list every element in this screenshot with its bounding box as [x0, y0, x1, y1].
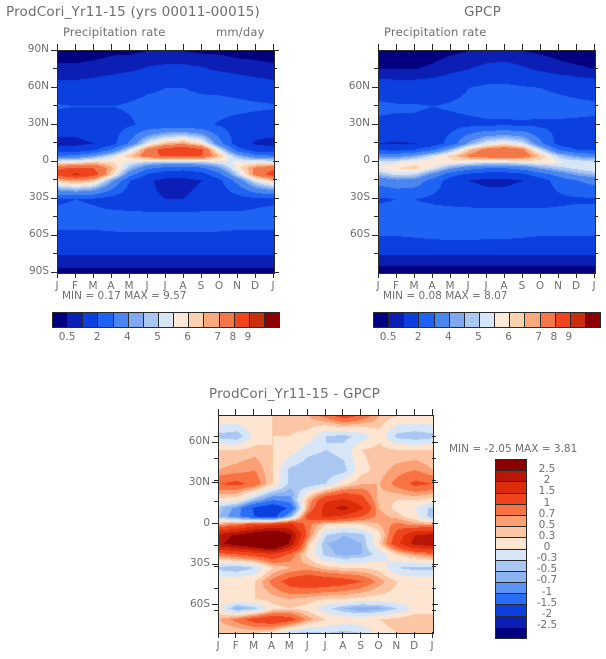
y-minor-tick [53, 68, 57, 69]
x-tick [576, 44, 577, 50]
obs-subtitle: Precipitation rate [384, 25, 487, 39]
x-tick [325, 409, 326, 415]
x-tick [183, 44, 184, 50]
x-tick [432, 272, 433, 278]
colorbar-cell [496, 550, 526, 561]
y-minor-tick [374, 235, 378, 236]
colorbar-cell [374, 313, 389, 327]
colorbar-cell [220, 313, 235, 327]
colorbar-cell [496, 561, 526, 572]
diff-colorbar[interactable] [495, 459, 527, 639]
y-minor-tick [432, 523, 436, 524]
y-minor-tick [594, 161, 598, 162]
precip-colorbar-obs[interactable] [373, 312, 601, 328]
x-tick [414, 44, 415, 50]
x-tick [414, 632, 415, 638]
colorbar-cell [496, 594, 526, 605]
colorbar-tick-label: 4 [434, 331, 462, 343]
y-axis-label: 30N [5, 117, 49, 129]
colorbar-cell [496, 471, 526, 482]
y-minor-tick [594, 216, 598, 217]
y-axis-label: 30S [5, 191, 49, 203]
x-tick [271, 632, 272, 638]
colorbar-tick-label: -2.5 [529, 619, 565, 631]
y-minor-tick [432, 545, 436, 546]
x-tick [414, 409, 415, 415]
colorbar-tick-label: 6 [495, 331, 523, 343]
model-units: mm/day [216, 25, 265, 39]
y-minor-tick [273, 105, 277, 106]
y-minor-tick [594, 198, 598, 199]
x-axis-label: M [280, 640, 298, 652]
y-minor-tick [432, 610, 436, 611]
y-axis-label: 60N [5, 80, 49, 92]
colorbar-cell [159, 313, 174, 327]
x-axis-label: D [567, 280, 585, 292]
y-minor-tick [214, 523, 218, 524]
colorbar-cell [389, 313, 404, 327]
colorbar-tick-label: 0.5 [374, 331, 402, 343]
colorbar-cell [571, 313, 586, 327]
colorbar-cell [495, 313, 510, 327]
y-axis-label: 90S [5, 265, 49, 277]
x-tick [219, 44, 220, 50]
colorbar-cell [586, 313, 600, 327]
colorbar-cell [496, 572, 526, 583]
y-minor-tick [432, 480, 436, 481]
x-tick [468, 44, 469, 50]
y-minor-tick [432, 588, 436, 589]
x-tick [378, 272, 379, 278]
x-tick [165, 44, 166, 50]
x-tick [218, 632, 219, 638]
x-tick [219, 272, 220, 278]
x-tick [558, 44, 559, 50]
colorbar-cell [510, 313, 525, 327]
y-axis-label: 60N [166, 435, 210, 447]
x-tick [201, 44, 202, 50]
y-tick [432, 564, 438, 565]
diff-minmax: MIN = -2.05 MAX = 3.81 [449, 443, 577, 455]
x-tick [504, 44, 505, 50]
y-tick [432, 482, 438, 483]
x-tick [450, 272, 451, 278]
colorbar-cell [53, 313, 68, 327]
colorbar-cell [450, 313, 465, 327]
x-tick [522, 44, 523, 50]
y-minor-tick [594, 235, 598, 236]
y-minor-tick [273, 235, 277, 236]
x-tick [57, 44, 58, 50]
x-tick [325, 632, 326, 638]
model-plot-area [57, 50, 275, 274]
x-tick [111, 272, 112, 278]
x-tick [540, 272, 541, 278]
y-minor-tick [432, 501, 436, 502]
diff-plot-area [218, 415, 434, 634]
y-axis-label: 60S [326, 228, 370, 240]
x-tick [57, 272, 58, 278]
colorbar-cell [265, 313, 279, 327]
x-tick [307, 409, 308, 415]
obs-plot-area [378, 50, 596, 274]
colorbar-tick-label: 9 [234, 331, 262, 343]
y-tick [212, 604, 218, 605]
colorbar-cell [496, 617, 526, 628]
model-minmax: MIN = 0.17 MAX = 9.57 [62, 290, 187, 302]
precip-colorbar-model[interactable] [52, 312, 280, 328]
x-axis-label: S [192, 280, 210, 292]
colorbar-cell [404, 313, 419, 327]
x-axis-label: J [209, 640, 227, 652]
y-minor-tick [273, 198, 277, 199]
y-minor-tick [214, 566, 218, 567]
x-tick [147, 272, 148, 278]
x-tick [201, 272, 202, 278]
y-minor-tick [374, 124, 378, 125]
y-minor-tick [214, 436, 218, 437]
x-tick [432, 632, 433, 638]
y-tick [212, 564, 218, 565]
colorbar-tick-label: 5 [464, 331, 492, 343]
colorbar-cell [174, 313, 189, 327]
y-minor-tick [53, 253, 57, 254]
colorbar-tick-label: 2 [404, 331, 432, 343]
x-axis-label: J [298, 640, 316, 652]
obs-title: GPCP [464, 4, 501, 20]
x-tick [237, 272, 238, 278]
x-axis-label: M [245, 640, 263, 652]
x-axis-label: O [531, 280, 549, 292]
y-minor-tick [594, 87, 598, 88]
y-tick [212, 442, 218, 443]
x-tick [594, 44, 595, 50]
x-tick [396, 409, 397, 415]
colorbar-cell [144, 313, 159, 327]
y-minor-tick [53, 87, 57, 88]
y-axis-label: 60S [5, 228, 49, 240]
y-minor-tick [214, 480, 218, 481]
colorbar-cell [556, 313, 571, 327]
y-minor-tick [594, 105, 598, 106]
y-minor-tick [53, 179, 57, 180]
x-axis-label: N [549, 280, 567, 292]
colorbar-cell [496, 494, 526, 505]
x-tick [255, 272, 256, 278]
y-minor-tick [594, 142, 598, 143]
x-tick [183, 272, 184, 278]
y-minor-tick [374, 216, 378, 217]
y-minor-tick [374, 105, 378, 106]
y-minor-tick [53, 142, 57, 143]
x-tick [75, 272, 76, 278]
x-tick [486, 44, 487, 50]
obs-minmax: MIN = 0.08 MAX = 8.07 [383, 290, 508, 302]
x-tick [504, 272, 505, 278]
colorbar-cell [189, 313, 204, 327]
colorbar-cell [496, 505, 526, 516]
y-minor-tick [214, 610, 218, 611]
x-axis-label: J [585, 280, 603, 292]
y-minor-tick [273, 68, 277, 69]
colorbar-cell [496, 482, 526, 493]
y-minor-tick [214, 588, 218, 589]
colorbar-cell [465, 313, 480, 327]
y-tick [273, 272, 279, 273]
x-tick [235, 409, 236, 415]
x-axis-label: J [264, 280, 282, 292]
colorbar-cell [496, 628, 526, 638]
y-axis-label: 0 [326, 154, 370, 166]
colorbar-cell [496, 605, 526, 616]
model-subtitle: Precipitation rate [63, 25, 166, 39]
colorbar-cell [496, 527, 526, 538]
y-minor-tick [53, 198, 57, 199]
y-axis-label: 30S [326, 191, 370, 203]
x-tick [253, 632, 254, 638]
x-tick [360, 632, 361, 638]
x-tick [273, 44, 274, 50]
x-tick [75, 44, 76, 50]
y-minor-tick [53, 161, 57, 162]
y-minor-tick [374, 68, 378, 69]
x-axis-label: N [228, 280, 246, 292]
colorbar-tick-label: 4 [113, 331, 141, 343]
y-minor-tick [53, 235, 57, 236]
y-axis-label: 90N [5, 43, 49, 55]
model-title: ProdCori_Yr11-15 (yrs 00011-00015) [6, 4, 260, 20]
colorbar-tick-label: 6 [174, 331, 202, 343]
colorbar-cell [68, 313, 83, 327]
x-tick [165, 272, 166, 278]
x-tick [486, 272, 487, 278]
colorbar-cell [435, 313, 450, 327]
x-axis-label: A [334, 640, 352, 652]
x-tick [289, 632, 290, 638]
y-minor-tick [374, 253, 378, 254]
colorbar-tick-label: 5 [143, 331, 171, 343]
x-tick [235, 632, 236, 638]
y-minor-tick [273, 161, 277, 162]
y-minor-tick [273, 142, 277, 143]
colorbar-cell [525, 313, 540, 327]
x-tick [576, 272, 577, 278]
x-axis-label: F [227, 640, 245, 652]
x-axis-label: J [316, 640, 334, 652]
colorbar-cell [496, 516, 526, 527]
x-tick [396, 44, 397, 50]
y-minor-tick [53, 216, 57, 217]
y-minor-tick [53, 105, 57, 106]
x-axis-label: D [405, 640, 423, 652]
x-axis-label: O [370, 640, 388, 652]
x-tick [129, 44, 130, 50]
x-tick [450, 44, 451, 50]
y-axis-label: 30S [166, 557, 210, 569]
y-tick [432, 604, 438, 605]
x-axis-label: J [423, 640, 441, 652]
x-tick [255, 44, 256, 50]
x-tick [129, 272, 130, 278]
x-tick [432, 409, 433, 415]
x-tick [289, 409, 290, 415]
y-minor-tick [374, 87, 378, 88]
colorbar-cell [250, 313, 265, 327]
y-minor-tick [374, 161, 378, 162]
x-tick [378, 409, 379, 415]
y-minor-tick [594, 179, 598, 180]
y-minor-tick [273, 216, 277, 217]
colorbar-cell [496, 583, 526, 594]
x-tick [273, 272, 274, 278]
colorbar-tick-label: 2 [83, 331, 111, 343]
y-axis-label: 30N [326, 117, 370, 129]
y-minor-tick [214, 458, 218, 459]
x-tick [468, 272, 469, 278]
y-minor-tick [214, 545, 218, 546]
y-minor-tick [594, 253, 598, 254]
y-axis-label: 60S [166, 598, 210, 610]
x-axis-label: S [513, 280, 531, 292]
x-tick [342, 632, 343, 638]
x-tick [271, 409, 272, 415]
y-tick [273, 50, 279, 51]
x-tick [93, 272, 94, 278]
colorbar-cell [419, 313, 434, 327]
y-minor-tick [374, 142, 378, 143]
x-tick [307, 632, 308, 638]
x-tick [522, 272, 523, 278]
x-tick [111, 44, 112, 50]
y-minor-tick [432, 458, 436, 459]
x-tick [360, 409, 361, 415]
y-axis-label: 60N [326, 80, 370, 92]
y-minor-tick [432, 566, 436, 567]
x-tick [414, 272, 415, 278]
colorbar-cell [235, 313, 250, 327]
x-tick [396, 272, 397, 278]
y-minor-tick [594, 68, 598, 69]
x-tick [396, 632, 397, 638]
colorbar-cell [83, 313, 98, 327]
y-minor-tick [273, 179, 277, 180]
colorbar-tick-label: 9 [555, 331, 583, 343]
x-tick [432, 44, 433, 50]
y-tick [212, 482, 218, 483]
x-tick [237, 44, 238, 50]
x-axis-label: N [387, 640, 405, 652]
x-tick [342, 409, 343, 415]
diff-title: ProdCori_Yr11-15 - GPCP [209, 386, 380, 402]
y-minor-tick [53, 124, 57, 125]
y-minor-tick [594, 124, 598, 125]
colorbar-cell [496, 460, 526, 471]
colorbar-cell [129, 313, 144, 327]
colorbar-cell [496, 538, 526, 549]
x-tick [93, 44, 94, 50]
x-tick [378, 44, 379, 50]
x-axis-label: S [352, 640, 370, 652]
y-minor-tick [273, 87, 277, 88]
y-minor-tick [214, 501, 218, 502]
x-axis-label: D [246, 280, 264, 292]
colorbar-cell [541, 313, 556, 327]
y-tick [432, 442, 438, 443]
y-axis-label: 30N [166, 476, 210, 488]
colorbar-cell [204, 313, 219, 327]
x-tick [147, 44, 148, 50]
y-minor-tick [432, 436, 436, 437]
x-tick [594, 272, 595, 278]
colorbar-cell [98, 313, 113, 327]
y-axis-label: 0 [5, 154, 49, 166]
x-axis-label: O [210, 280, 228, 292]
colorbar-cell [480, 313, 495, 327]
colorbar-cell [114, 313, 129, 327]
colorbar-tick-label: 0.5 [53, 331, 81, 343]
x-tick [558, 272, 559, 278]
y-minor-tick [273, 253, 277, 254]
y-axis-label: 0 [166, 517, 210, 529]
x-tick [253, 409, 254, 415]
x-tick [378, 632, 379, 638]
x-tick [540, 44, 541, 50]
x-tick [218, 409, 219, 415]
y-minor-tick [273, 124, 277, 125]
y-minor-tick [374, 198, 378, 199]
x-axis-label: A [263, 640, 281, 652]
y-minor-tick [374, 179, 378, 180]
